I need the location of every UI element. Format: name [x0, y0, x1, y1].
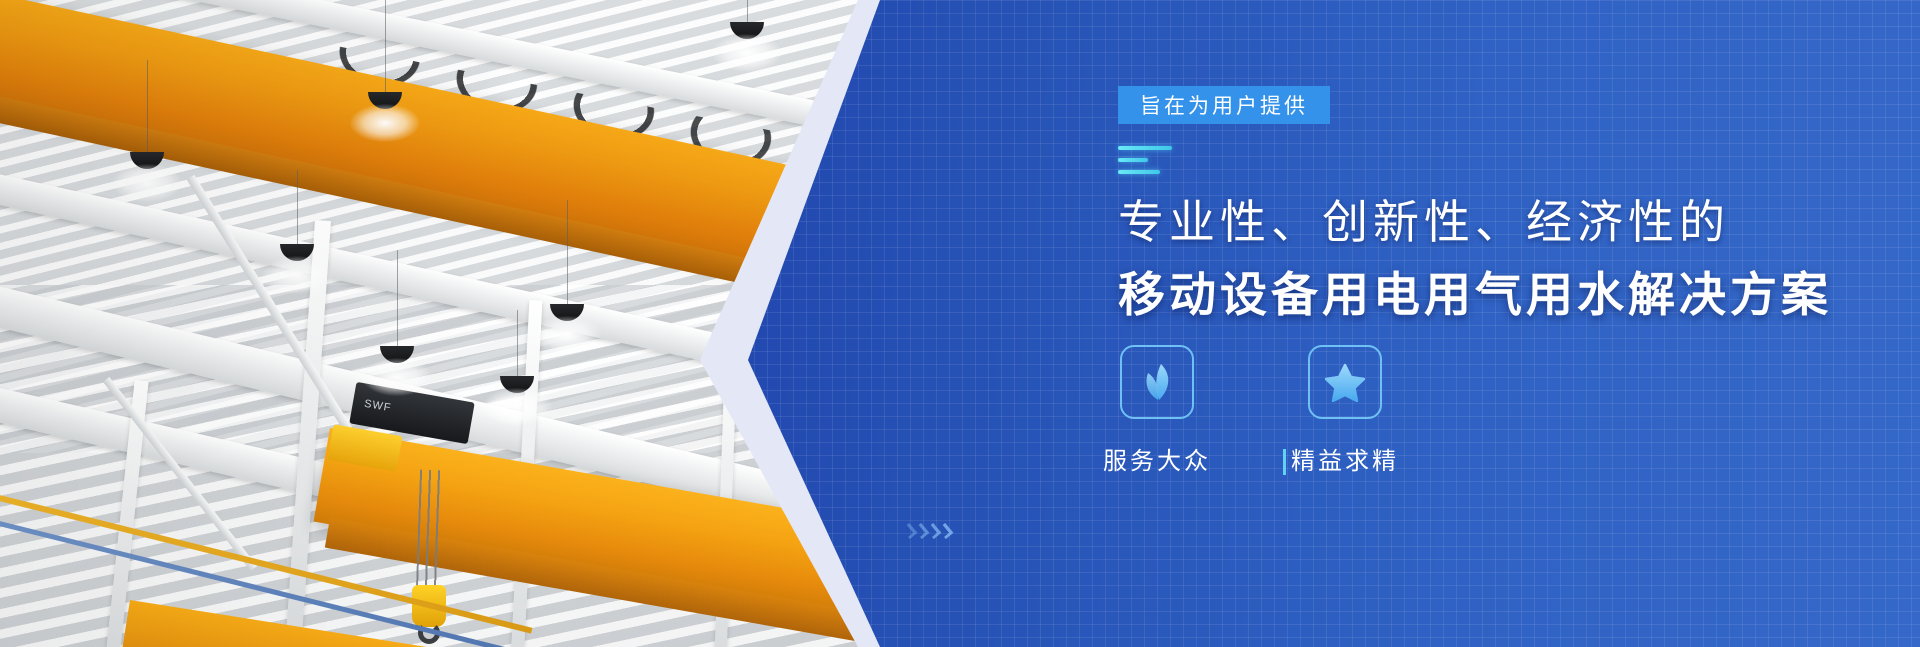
leaf-icon-box — [1120, 345, 1194, 419]
star-icon — [1325, 362, 1365, 402]
feature-label-excellence: 精益求精 — [1291, 441, 1399, 476]
decoration-line-long — [1118, 146, 1172, 150]
hero-banner: SWF — [0, 0, 1920, 647]
chevron-right-arrows-icon — [905, 524, 950, 538]
headline-line-1: 专业性、创新性、经济性的 — [1118, 186, 1730, 252]
feature-list: 服务大众 精益求精 — [1118, 345, 1384, 476]
feature-divider — [1283, 449, 1286, 475]
decoration-line-medium — [1118, 170, 1160, 174]
decoration-lines — [1118, 146, 1238, 182]
feature-label-service: 服务大众 — [1103, 441, 1211, 476]
star-icon-box — [1308, 345, 1382, 419]
feature-item-excellence[interactable]: 精益求精 — [1306, 345, 1384, 476]
decoration-line-short — [1118, 158, 1148, 162]
badge-tagline: 旨在为用户提供 — [1118, 86, 1330, 124]
leaf-icon — [1135, 360, 1179, 404]
banner-content: 旨在为用户提供 专业性、创新性、经济性的 移动设备用电用气用水解决方案 — [1118, 0, 1918, 647]
headline-line-2: 移动设备用电用气用水解决方案 — [1118, 256, 1832, 325]
feature-item-service[interactable]: 服务大众 — [1118, 345, 1196, 476]
